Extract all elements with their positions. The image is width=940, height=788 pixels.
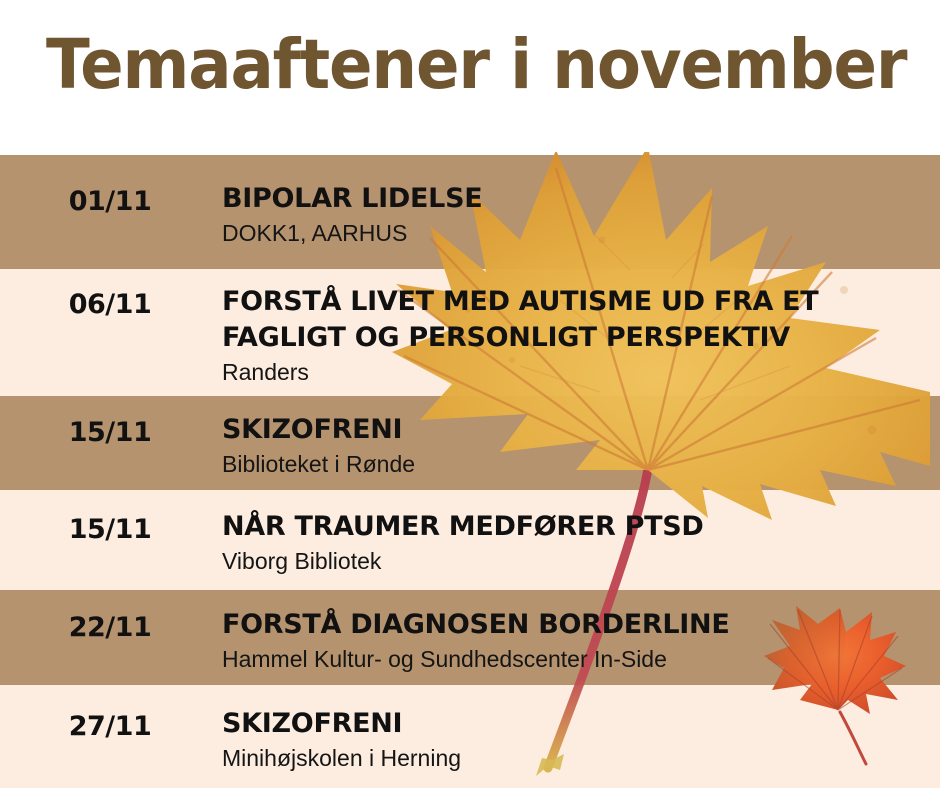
page-title: Temaaftener i november [46, 26, 906, 105]
event-body: FORSTÅ DIAGNOSEN BORDERLINEHammel Kultur… [222, 607, 922, 674]
event-row[interactable]: 06/11FORSTÅ LIVET MED AUTISME UD FRA ET … [0, 269, 940, 396]
event-location: Biblioteket i Rønde [222, 449, 922, 479]
event-body: SKIZOFRENIBiblioteket i Rønde [222, 412, 922, 479]
title-area: Temaaftener i november [0, 0, 940, 152]
event-date: 15/11 [40, 417, 180, 448]
event-location: Viborg Bibliotek [222, 546, 922, 576]
event-row[interactable]: 27/11SKIZOFRENIMinihøjskolen i Herning [0, 685, 940, 788]
event-row[interactable]: 01/11BIPOLAR LIDELSEDOKK1, AARHUS [0, 155, 940, 269]
event-location: Minihøjskolen i Herning [222, 743, 922, 773]
event-body: FORSTÅ LIVET MED AUTISME UD FRA ET FAGLI… [222, 284, 922, 387]
event-body: SKIZOFRENIMinihøjskolen i Herning [222, 706, 922, 773]
event-date: 27/11 [40, 711, 180, 742]
event-title: FORSTÅ DIAGNOSEN BORDERLINE [222, 607, 922, 643]
event-title: SKIZOFRENI [222, 706, 922, 742]
event-body: BIPOLAR LIDELSEDOKK1, AARHUS [222, 181, 922, 248]
event-date: 15/11 [40, 514, 180, 545]
event-row[interactable]: 15/11SKIZOFRENIBiblioteket i Rønde [0, 396, 940, 490]
event-row[interactable]: 15/11NÅR TRAUMER MEDFØRER PTSDViborg Bib… [0, 490, 940, 590]
event-title: BIPOLAR LIDELSE [222, 181, 922, 217]
event-date: 01/11 [40, 186, 180, 217]
event-title: FORSTÅ LIVET MED AUTISME UD FRA ET FAGLI… [222, 284, 922, 356]
event-date: 06/11 [40, 289, 180, 320]
event-location: DOKK1, AARHUS [222, 218, 922, 248]
event-location: Hammel Kultur- og Sundhedscenter In-Side [222, 644, 922, 674]
event-body: NÅR TRAUMER MEDFØRER PTSDViborg Bibliote… [222, 509, 922, 576]
poster-canvas: Temaaftener i november 01/11BIPOLAR LIDE… [0, 0, 940, 788]
event-title: SKIZOFRENI [222, 412, 922, 448]
event-date: 22/11 [40, 612, 180, 643]
event-row[interactable]: 22/11FORSTÅ DIAGNOSEN BORDERLINEHammel K… [0, 590, 940, 685]
event-location: Randers [222, 357, 922, 387]
event-title: NÅR TRAUMER MEDFØRER PTSD [222, 509, 922, 545]
